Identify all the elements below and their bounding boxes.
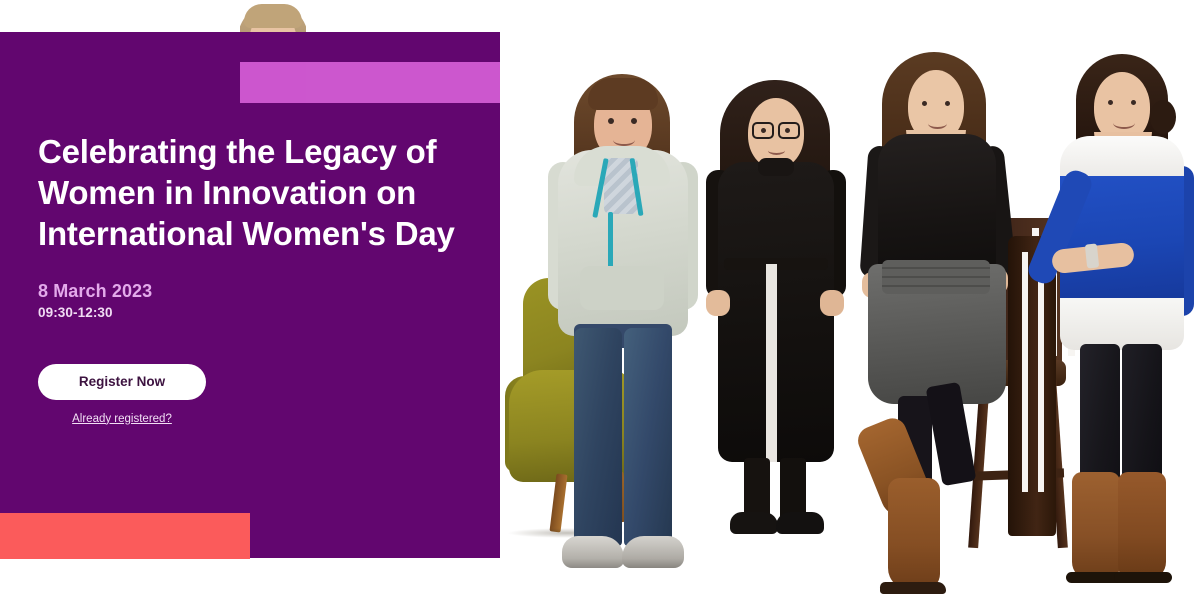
smile xyxy=(928,118,947,129)
cta-group: Register Now Already registered? xyxy=(38,364,206,427)
banner-content: Celebrating the Legacy of Women in Innov… xyxy=(38,132,478,427)
eye xyxy=(1108,100,1113,105)
event-date: 8 March 2023 xyxy=(38,281,478,302)
eye xyxy=(608,118,614,124)
top-white-lower-block xyxy=(1060,298,1184,350)
portrait-fringe xyxy=(244,4,302,28)
person-woman-blue-white-top xyxy=(1046,48,1194,568)
eye xyxy=(631,118,637,124)
coral-accent-band xyxy=(0,513,250,559)
shoe-right xyxy=(776,512,824,534)
sneaker-right xyxy=(622,536,684,568)
leg-left xyxy=(574,328,622,546)
magenta-overlay-on-portrait xyxy=(240,62,306,103)
smile xyxy=(1113,117,1135,129)
hand-left xyxy=(706,290,730,316)
hair-fringe xyxy=(588,78,658,110)
person-woman-grey-hoodie xyxy=(548,66,698,574)
hoodie-pocket xyxy=(580,266,664,310)
leg-right xyxy=(624,328,672,546)
dress-white-stripe xyxy=(766,264,777,462)
wristwatch xyxy=(1085,243,1099,268)
torso-black-top xyxy=(878,134,996,276)
leg-left xyxy=(744,458,770,520)
eyeglasses-icon xyxy=(752,122,800,138)
boot-left xyxy=(1072,472,1120,580)
skirt-waistband xyxy=(882,260,990,294)
event-time: 09:30-12:30 xyxy=(38,305,478,320)
boot-sole-right xyxy=(1114,572,1172,583)
register-now-button[interactable]: Register Now xyxy=(38,364,206,400)
shoe-left xyxy=(730,512,778,534)
eye xyxy=(945,101,950,106)
leg-right xyxy=(780,458,806,520)
page-title: Celebrating the Legacy of Women in Innov… xyxy=(38,132,470,255)
lanyard xyxy=(608,212,613,268)
hand-right xyxy=(820,290,844,316)
event-banner: Celebrating the Legacy of Women in Innov… xyxy=(0,0,1200,600)
eye xyxy=(1131,100,1136,105)
chair-slat xyxy=(1022,252,1028,492)
chair-slat xyxy=(1038,252,1044,492)
boot-sole xyxy=(880,582,946,594)
collar xyxy=(758,158,794,176)
eye xyxy=(922,101,927,106)
smile xyxy=(613,134,635,146)
already-registered-link[interactable]: Already registered? xyxy=(72,413,172,425)
person-woman-black-dress xyxy=(706,76,846,540)
boot-left xyxy=(888,478,940,590)
boot-right xyxy=(1118,472,1166,580)
hair-bun xyxy=(1150,100,1176,134)
sneaker-left xyxy=(562,536,624,568)
mouth xyxy=(768,146,785,155)
person-woman-grey-skirt xyxy=(862,48,1012,568)
